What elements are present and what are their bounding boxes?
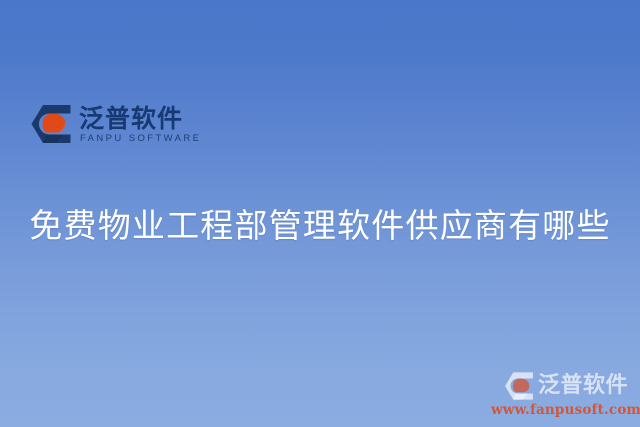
brand-name-cn: 泛普软件 (79, 105, 201, 132)
fanpu-logo-mark-icon (30, 103, 72, 145)
brand-wordmark: 泛普软件 FANPU SOFTWARE (79, 103, 201, 145)
watermark-logo-row: 泛普软件 (504, 371, 628, 401)
fanpu-logo-mark-icon (504, 371, 534, 401)
brand-name-en: FANPU SOFTWARE (79, 132, 201, 145)
watermark-name-cn: 泛普软件 (538, 374, 628, 398)
banner-canvas: 泛普软件 FANPU SOFTWARE 免费物业工程部管理软件供应商有哪些 泛普… (0, 0, 640, 427)
page-title: 免费物业工程部管理软件供应商有哪些 (0, 204, 640, 248)
watermark: 泛普软件 www.fanpusoft.com (500, 371, 632, 418)
watermark-url: www.fanpusoft.com (491, 402, 640, 418)
brand-logo[interactable]: 泛普软件 FANPU SOFTWARE (30, 103, 201, 145)
